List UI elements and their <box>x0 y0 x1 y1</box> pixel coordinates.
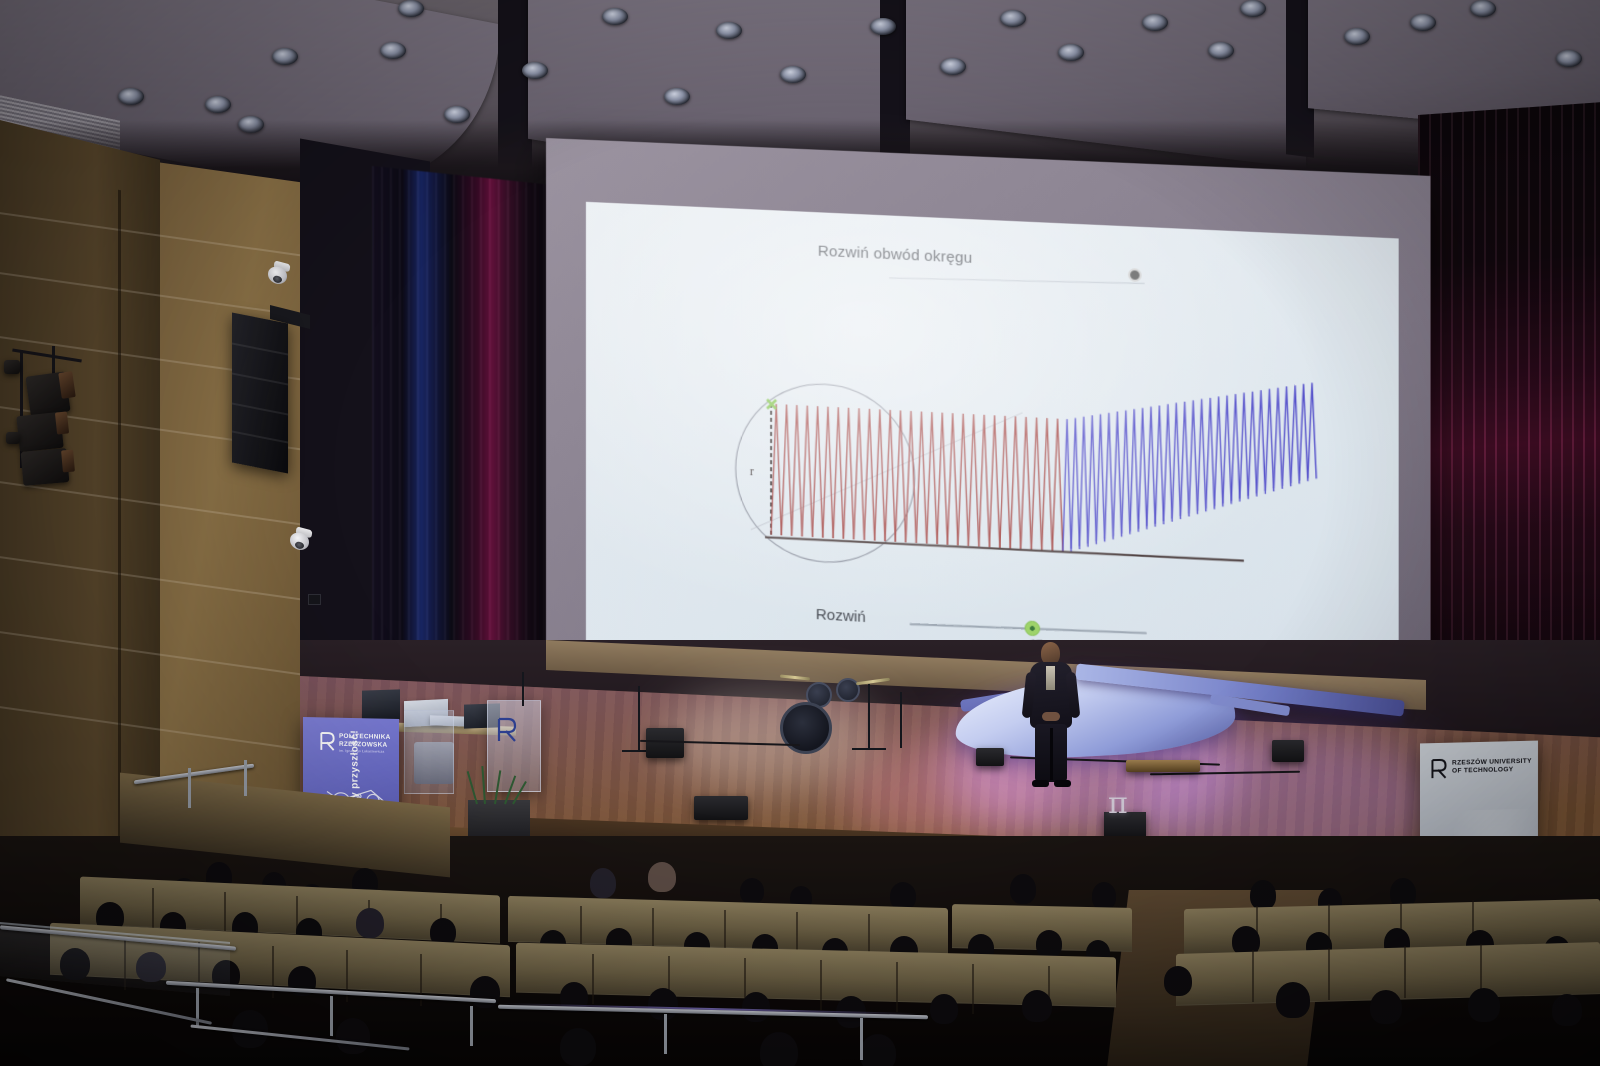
ceiling-downlight <box>1000 10 1026 27</box>
ceiling-downlight <box>522 62 548 79</box>
presenter-hands <box>1042 712 1060 721</box>
stage-light-box <box>1272 740 1304 762</box>
audience-head <box>1036 930 1062 958</box>
ceiling-downlight <box>1556 50 1582 67</box>
ceiling-downlight <box>1344 28 1370 45</box>
audience-head <box>1552 994 1582 1026</box>
ptz-camera-icon <box>290 527 312 556</box>
mic-stand <box>900 692 902 748</box>
guitar-amplifier <box>646 728 684 758</box>
ceiling-downlight <box>1142 14 1168 31</box>
audience-head <box>930 994 958 1024</box>
line-array-speaker <box>232 313 288 474</box>
pi-symbol-icon: π <box>1108 786 1128 821</box>
audience-head <box>356 908 384 938</box>
ceiling-downlight <box>380 42 406 59</box>
audience-head <box>560 1028 596 1066</box>
mic-stand <box>868 684 870 748</box>
ceiling-downlight <box>398 0 424 17</box>
audience-head <box>1468 988 1500 1022</box>
presenter-shoe <box>1032 780 1049 787</box>
banner-left-name-line2: RZESZOWSKA <box>339 740 391 749</box>
audience-head <box>648 862 676 892</box>
banner-left-subtitle: im. Ignacego Łukasiewicza <box>339 749 385 754</box>
auditorium-scene: Rozwiń obwód okręgu <box>0 0 1600 1066</box>
lectern-secondary <box>404 710 454 794</box>
audience-head <box>1276 982 1310 1018</box>
wedges-flat <box>771 404 1063 552</box>
prz-logo-icon <box>319 731 336 751</box>
audience-head <box>760 1032 798 1066</box>
wall-panel-plate <box>308 594 321 605</box>
ceiling-downlight <box>780 66 806 83</box>
audience-head <box>648 988 678 1020</box>
presenter-shirt <box>1046 666 1055 690</box>
audience-head <box>1022 990 1052 1022</box>
drum-kick <box>780 702 832 754</box>
ceiling-downlight <box>118 88 144 105</box>
stage-lighting-rig <box>4 340 96 490</box>
wedges-fanned <box>1063 370 1317 565</box>
stage-curtain-left <box>372 166 562 696</box>
stage-monitor <box>694 796 748 820</box>
unroll-slider-label: Rozwiń <box>816 606 866 626</box>
audience-head <box>590 868 616 898</box>
audience-head <box>1164 966 1192 996</box>
banner-right-name-line2: OF TECHNOLOGY <box>1452 766 1532 776</box>
monitor <box>362 689 400 720</box>
prz-logo-icon <box>496 717 518 743</box>
radius-label: r <box>750 464 754 478</box>
ceiling-downlight <box>1058 44 1084 61</box>
audience-head <box>860 1034 896 1066</box>
ceiling-downlight <box>664 88 690 105</box>
stage-light-box <box>976 748 1004 766</box>
wooden-trough <box>1126 760 1200 772</box>
ceiling-downlight <box>940 58 966 75</box>
slide-title: Rozwiń obwód okręgu <box>818 243 973 267</box>
audience-head <box>1092 882 1116 910</box>
mic-base <box>852 748 886 750</box>
prz-logo-icon <box>1430 758 1448 780</box>
ceiling-downlight <box>205 96 231 113</box>
ceiling-downlight <box>602 8 628 25</box>
presenter-shoe <box>1054 780 1071 787</box>
ceiling-downlight <box>716 22 742 39</box>
figure-svg: r <box>586 332 1399 609</box>
ceiling-downlight <box>1240 0 1266 17</box>
ceiling-downlight <box>1470 0 1496 17</box>
audience-head <box>1250 880 1276 910</box>
audience-head <box>740 878 764 904</box>
presenter <box>1022 642 1080 792</box>
title-slider-track[interactable] <box>889 277 1145 283</box>
audience-head <box>336 1018 370 1054</box>
ceiling-downlight <box>272 48 298 65</box>
ceiling-downlight <box>1208 42 1234 59</box>
unrolled-circle-figure: r <box>586 332 1399 609</box>
projection-screen-surface[interactable]: Rozwiń obwód okręgu <box>586 202 1399 700</box>
stage-curtain-right <box>1418 101 1600 695</box>
audience-head <box>470 976 500 1008</box>
ptz-camera-icon <box>268 261 290 290</box>
ceiling-downlight <box>870 18 896 35</box>
audience-head <box>1370 990 1402 1024</box>
audience-head <box>742 992 770 1022</box>
audience-head <box>1010 874 1036 904</box>
lectern-mic <box>522 672 524 706</box>
ceiling-downlight <box>1410 14 1436 31</box>
title-toggle-dot[interactable] <box>1128 268 1142 282</box>
